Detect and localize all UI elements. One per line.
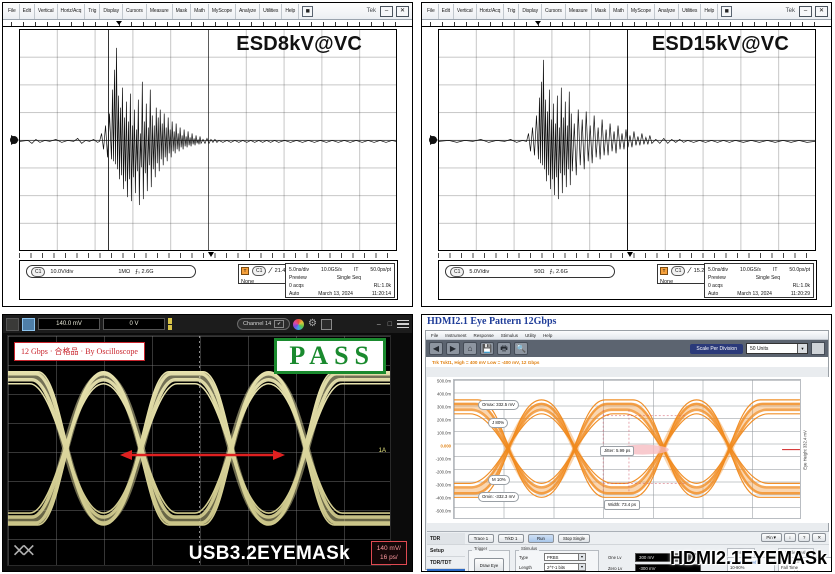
acquisition-readout-box: 5.0ns/div 10.0GS/s IT 50.0ps/pt Preview …	[285, 263, 395, 298]
menu-measure[interactable]: Measure	[147, 4, 173, 19]
waveform-trace	[439, 30, 815, 251]
menu-analyze[interactable]: Analyze	[655, 4, 679, 19]
save-icon[interactable]: 💾	[480, 342, 494, 355]
trigger-source-icon: T	[241, 267, 249, 275]
stepper-icon[interactable]	[168, 318, 172, 330]
measurement-jitter: Jitter: 5.99 ps	[600, 446, 634, 456]
menu-mask[interactable]: Mask	[592, 4, 611, 19]
menu-trig[interactable]: Trig	[504, 4, 519, 19]
acq-mode-label: Single Seq	[756, 274, 780, 282]
run-button[interactable]: Run	[528, 534, 554, 543]
eye-height-label: Eye Height 332.4 mV	[803, 430, 808, 470]
y-tick-7: -200.0m	[436, 470, 451, 475]
channel-chip: C1	[450, 267, 464, 277]
oscilloscope-panel-esd8kv: File Edit Vertical Horiz/Acq Trig Displa…	[2, 2, 413, 307]
y-tick-9: -400.0m	[436, 496, 451, 501]
menu-myscope[interactable]: MyScope	[628, 4, 655, 19]
stop-single-button[interactable]: Stop Single	[558, 534, 590, 543]
scope-right-menubar: File Edit Vertical Horiz/Acq Trig Displa…	[422, 3, 831, 20]
save-icon[interactable]	[321, 319, 332, 330]
menu-file[interactable]: File	[5, 4, 20, 19]
close-button[interactable]: ✕	[812, 533, 826, 542]
hdmi-panel-heading: HDMI2.1 Eye Pattern 12Gbps	[427, 316, 556, 327]
print-icon[interactable]: 🖶	[497, 342, 511, 355]
hdmi-overlay-title: HDMI2.1EYEMASk	[670, 548, 827, 569]
trigger-coupling-value: None	[660, 278, 673, 286]
channel-readout-box[interactable]: C1 10.0V/div 1MΩ ⨍ₛ 2.6G	[26, 265, 196, 278]
channel-selector-label: Channel 14	[243, 321, 271, 327]
usb-side-channel-label: 1A	[379, 448, 386, 454]
menu-analyze[interactable]: Analyze	[236, 4, 260, 19]
eye-diagram-canvas[interactable]: Omax: 332.5 mV J 80% Jitter: 5.99 ps M 1…	[453, 379, 801, 519]
y-tick-3: 200.0m	[437, 418, 451, 423]
minimize-button[interactable]: –	[799, 6, 812, 17]
interpolation-flag: IT	[773, 266, 777, 274]
amplitude-readout[interactable]: 140.0 mV	[38, 318, 100, 330]
acq-line-2: Preview Single Seq	[708, 274, 810, 282]
ruler-trigger-marker[interactable]	[116, 21, 122, 25]
hdmi-tab-strip: TDR Setup TDR/TDT Eye/Mask	[427, 532, 465, 572]
bottom-ruler-center-marker	[627, 252, 633, 257]
usb-spec-box: 140 mV/ 16 ps/	[371, 541, 407, 565]
eye-right-axis: Eye Height 332.4 mV	[803, 377, 829, 523]
vertical-scale-value: 5.0V/div	[469, 268, 489, 276]
sample-rate-value: 10.0GS/s	[740, 266, 761, 274]
measurement-width: Width: 73.4 ps	[604, 500, 640, 510]
trigger-group-title: Trigger	[472, 546, 489, 551]
acq-count-label: 0 acqs	[289, 282, 304, 290]
tab-header-tdr: TDR	[427, 533, 465, 545]
menu-horiz-acq[interactable]: Horiz/Acq	[477, 4, 505, 19]
stimulus-length-row: Length 2^7-1 bits ▼	[519, 563, 598, 571]
menu-edit[interactable]: Edit	[20, 4, 35, 19]
y-tick-8: -300.0m	[436, 483, 451, 488]
measurement-omax: Omax: 332.5 mV	[478, 400, 519, 410]
minimize-button[interactable]: –	[380, 6, 393, 17]
menu-horiz-acq[interactable]: Horiz/Acq	[58, 4, 86, 19]
scope-left-title-label: ESD8kV@VC	[236, 33, 362, 56]
scope-right-graticule[interactable]	[438, 29, 816, 251]
ruler-ticks	[430, 22, 823, 26]
stimulus-group-title: Stimulus	[519, 546, 539, 551]
menu-extra-button[interactable]: ■	[302, 6, 313, 17]
measurement-lower-pct: M 10%	[488, 475, 510, 485]
record-length-label: RL:1.0k	[374, 282, 391, 290]
waveform-trace	[20, 30, 396, 251]
acq-state-label: Preview	[289, 274, 307, 282]
help-button[interactable]: ?	[798, 533, 810, 542]
close-button[interactable]: ✕	[396, 6, 409, 17]
tab-setup[interactable]: Setup	[427, 545, 465, 557]
scope-right-title-label: ESD15kV@VC	[652, 33, 789, 56]
channel-check-icon: ✔	[274, 320, 284, 328]
menu-measure[interactable]: Measure	[566, 4, 592, 19]
draw-eye-button[interactable]: Draw Eye	[474, 558, 504, 573]
eye-width-arrow-annotation	[120, 448, 285, 460]
menu-extra-button[interactable]: ■	[721, 6, 732, 17]
scale-units-value: 50 Units	[750, 346, 768, 352]
acquisition-readout-box: 5.0ns/div 10.0GS/s IT 50.0ps/pt Preview …	[704, 263, 814, 298]
menu-mask[interactable]: Mask	[173, 4, 192, 19]
color-wheel-icon[interactable]	[293, 319, 304, 330]
ruler-ticks	[11, 22, 404, 26]
hdmi-eye-plot-area: 500.0m 400.0m 300.0m 200.0m 100.0m 0.000…	[427, 377, 829, 523]
forward-icon[interactable]: ▶	[446, 342, 460, 355]
hdmi-menu-help[interactable]: Help	[543, 332, 552, 339]
toolbar-square-icon[interactable]	[6, 318, 19, 331]
one-level-label: One Lv	[608, 555, 632, 560]
hdmi21-eye-mask-panel: HDMI2.1 Eye Pattern 12Gbps File Instrume…	[421, 314, 832, 572]
trigger-mode-auto-label: Auto	[289, 290, 299, 298]
trigger-mode-auto-label: Auto	[708, 290, 718, 298]
menu-myscope[interactable]: MyScope	[209, 4, 236, 19]
trigger-slope-icon: /	[687, 267, 692, 275]
y-tick-10: -500.0m	[436, 509, 451, 514]
stimulus-type-row: Type PRBS ▼	[519, 553, 598, 561]
y-tick-6: -100.0m	[436, 457, 451, 462]
menu-cursors[interactable]: Cursors	[123, 4, 147, 19]
trigger-source-icon: T	[660, 267, 668, 275]
resolution-value: 50.0ps/pt	[370, 266, 391, 274]
result-row-step-mid: Step Mid	[781, 570, 829, 572]
menu-vertical[interactable]: Vertical	[35, 4, 58, 19]
stimulus-group: Stimulus Type PRBS ▼ Length 2^7-1 bits	[515, 550, 599, 572]
minimize-button[interactable]: –	[375, 321, 383, 328]
gear-icon[interactable]: ⚙	[307, 319, 318, 330]
toolbar-selected-channel-icon[interactable]	[22, 318, 35, 331]
hdmi-window-controls: Pin▼ ↕ ? ✕	[761, 533, 826, 542]
stimulus-type-label: Type	[519, 555, 541, 560]
trace-select-button[interactable]: Trace 1	[468, 534, 494, 543]
scope-right-bottom-ruler	[438, 253, 815, 258]
menu-display[interactable]: Display	[100, 4, 123, 19]
maximize-button[interactable]: □	[386, 321, 394, 328]
acq-state-label: Preview	[708, 274, 726, 282]
y-tick-2: 300.0m	[437, 405, 451, 410]
acq-line-4: Auto March 13, 2024 11:20:29	[708, 290, 810, 298]
stimulus-length-select[interactable]: 2^7-1 bits ▼	[544, 563, 586, 571]
channel-selector[interactable]: Channel 14 ✔	[237, 318, 290, 330]
chevron-down-icon: ▼	[797, 344, 807, 353]
menu-utilities[interactable]: Utilities	[679, 4, 701, 19]
hdmi-menu-instrument[interactable]: Instrument	[445, 332, 466, 339]
scope-left-graticule[interactable]	[19, 29, 397, 251]
hdmi-info-line: Trk Tskt1, High = 400 mV Low = -400 mV, …	[426, 357, 828, 367]
scale-per-division-label: Scale Per Division	[690, 344, 743, 354]
sample-rate-value: 10.0GS/s	[321, 266, 342, 274]
acq-line-1: 5.0ns/div 10.0GS/s IT 50.0ps/pt	[708, 266, 810, 274]
vendor-logo-text: Tek	[367, 8, 376, 14]
eye-y-axis: 500.0m 400.0m 300.0m 200.0m 100.0m 0.000…	[427, 377, 453, 523]
channel-1-ground-marker[interactable]	[10, 136, 18, 144]
overlay-checkbox-row[interactable]: ☑ Overlay	[730, 571, 772, 572]
ruler-trigger-marker[interactable]	[535, 21, 541, 25]
usb-caption-label: 12 Gbps · 合格品 · By Oscilloscope	[14, 342, 145, 361]
zoom-icon[interactable]: 🔍	[514, 342, 528, 355]
vendor-logo-icon: ⨉⨉	[14, 543, 33, 559]
scope-right-top-ruler	[422, 20, 831, 27]
usb-toolbar: 140.0 mV 0 V Channel 14 ✔ ⚙ – □	[3, 315, 412, 333]
trigger-group: Trigger Draw Eye	[468, 550, 510, 572]
trigger-coupling-value: None	[241, 278, 254, 286]
acq-count-label: 0 acqs	[708, 282, 723, 290]
record-length-label: RL:1.0k	[793, 282, 810, 290]
timebase-value: 5.0ns/div	[289, 266, 309, 274]
hdmi-menubar: File Instrument Response Stimulus Utilit…	[426, 331, 828, 340]
acq-line-3: 0 acqs RL:1.0k	[289, 282, 391, 290]
panel-toggle-icon[interactable]	[811, 342, 825, 355]
scope-left-readout-zone: C1 10.0V/div 1MΩ ⨍ₛ 2.6G T C1 / 21.4V No…	[19, 260, 398, 300]
measurement-upper-pct: J 80%	[488, 418, 508, 428]
vendor-logo-text: Tek	[786, 8, 795, 14]
menu-vertical[interactable]: Vertical	[454, 4, 477, 19]
coupling-value: ⨍ₛ 2.6G	[550, 268, 568, 276]
hdmi-toolbar: ◀ ▶ ⌂ 💾 🖶 🔍 Scale Per Division 50 Units …	[426, 340, 828, 357]
tdt-select-button[interactable]: TrkD 1	[498, 534, 524, 543]
menu-math[interactable]: Math	[610, 4, 628, 19]
scope-left-bottom-ruler	[19, 253, 396, 258]
chevron-down-icon: ▼	[578, 554, 585, 560]
tab-eye-mask[interactable]: Eye/Mask	[427, 569, 465, 572]
channel-1-ground-marker[interactable]	[429, 136, 437, 144]
menu-file[interactable]: File	[424, 4, 439, 19]
chevron-down-icon: ▼	[578, 564, 585, 570]
hdmi-menu-file[interactable]: File	[431, 332, 438, 339]
hdmi-menu-response[interactable]: Response	[474, 332, 494, 339]
usb-spec-time: 16 ps/	[377, 553, 401, 562]
pin-button[interactable]: Pin▼	[761, 533, 781, 542]
stimulus-type-value: PRBS	[547, 555, 558, 560]
hdmi-menu-utility[interactable]: Utility	[525, 332, 536, 339]
y-tick-0: 500.0m	[437, 379, 451, 384]
impedance-value: 50Ω	[534, 268, 544, 276]
acq-line-3: 0 acqs RL:1.0k	[708, 282, 810, 290]
acq-line-1: 5.0ns/div 10.0GS/s IT 50.0ps/pt	[289, 266, 391, 274]
acq-date-label: March 13, 2024	[318, 290, 353, 298]
screenshot-root: File Edit Vertical Horiz/Acq Trig Displa…	[0, 0, 835, 574]
acq-date-label: March 13, 2024	[737, 290, 772, 298]
interpolation-flag: IT	[354, 266, 358, 274]
trigger-channel-chip: C1	[252, 266, 266, 276]
y-tick-4: 100.0m	[437, 431, 451, 436]
menu-display[interactable]: Display	[519, 4, 542, 19]
back-icon[interactable]: ◀	[429, 342, 443, 355]
scope-left-top-ruler	[3, 20, 412, 27]
vertical-scale-value: 10.0V/div	[50, 268, 73, 276]
home-icon[interactable]: ⌂	[463, 342, 477, 355]
tab-tdr-tdt[interactable]: TDR/TDT	[427, 557, 465, 569]
scope-left-menubar: File Edit Vertical Horiz/Acq Trig Displa…	[3, 3, 412, 20]
measurement-omin: Omin: -332.3 mV	[478, 492, 519, 502]
usb-panel-title: USB3.2EYEMASk	[189, 543, 350, 565]
menu-trig[interactable]: Trig	[85, 4, 100, 19]
checkbox-icon: ☑	[730, 571, 734, 572]
resolution-value: 50.0ps/pt	[789, 266, 810, 274]
zero-level-label: Zero Lv	[608, 566, 632, 571]
timebase-value: 5.0ns/div	[708, 266, 728, 274]
stimulus-length-label: Length	[519, 565, 541, 570]
channel-readout-box[interactable]: C1 5.0V/div 50Ω ⨍ₛ 2.6G	[445, 265, 615, 278]
acq-line-2: Preview Single Seq	[289, 274, 391, 282]
menu-math[interactable]: Math	[191, 4, 209, 19]
coupling-value: ⨍ₛ 2.6G	[135, 268, 153, 276]
acq-time-label: 11:20:29	[791, 290, 810, 298]
hamburger-menu-icon[interactable]	[397, 319, 409, 330]
y-tick-1: 400.0m	[437, 392, 451, 397]
scale-units-select[interactable]: 50 Units ▼	[746, 343, 808, 354]
hdmi-menu-stimulus[interactable]: Stimulus	[501, 332, 518, 339]
y-tick-5: 0.000	[441, 444, 451, 449]
expand-button[interactable]: ↕	[784, 533, 796, 542]
impedance-value: 1MΩ	[118, 268, 130, 276]
menu-utilities[interactable]: Utilities	[260, 4, 282, 19]
trigger-channel-chip: C1	[671, 266, 685, 276]
stimulus-length-value: 2^7-1 bits	[547, 565, 565, 570]
oscilloscope-panel-esd15kv: File Edit Vertical Horiz/Acq Trig Displa…	[421, 2, 832, 307]
hdmi-application-window: File Instrument Response Stimulus Utilit…	[425, 330, 829, 570]
acq-mode-label: Single Seq	[337, 274, 361, 282]
close-button[interactable]: ✕	[815, 6, 828, 17]
acq-line-4: Auto March 13, 2024 11:20:14	[289, 290, 391, 298]
overlay-label: Overlay	[735, 571, 749, 572]
offset-readout[interactable]: 0 V	[103, 318, 165, 330]
menu-edit[interactable]: Edit	[439, 4, 454, 19]
bottom-ruler-center-marker	[208, 252, 214, 257]
pass-status-badge: PASS	[274, 338, 386, 374]
trigger-slope-icon: /	[268, 267, 273, 275]
scope-right-readout-zone: C1 5.0V/div 50Ω ⨍ₛ 2.6G T C1 / 15.2V Non…	[438, 260, 817, 300]
menu-cursors[interactable]: Cursors	[542, 4, 566, 19]
stimulus-type-select[interactable]: PRBS ▼	[544, 553, 586, 561]
usb-spec-amplitude: 140 mV/	[377, 544, 401, 553]
usb32-eye-mask-panel: 140.0 mV 0 V Channel 14 ✔ ⚙ – □	[2, 314, 413, 572]
acq-time-label: 11:20:14	[372, 290, 391, 298]
channel-chip: C1	[31, 267, 45, 277]
menu-help[interactable]: Help	[282, 4, 299, 19]
menu-help[interactable]: Help	[701, 4, 718, 19]
usb-eye-display[interactable]: 12 Gbps · 合格品 · By Oscilloscope PASS 1A …	[7, 335, 391, 566]
hdmi-run-controls: Trace 1 TrkD 1 Run Stop Single Pin▼ ↕ ? …	[465, 532, 829, 545]
